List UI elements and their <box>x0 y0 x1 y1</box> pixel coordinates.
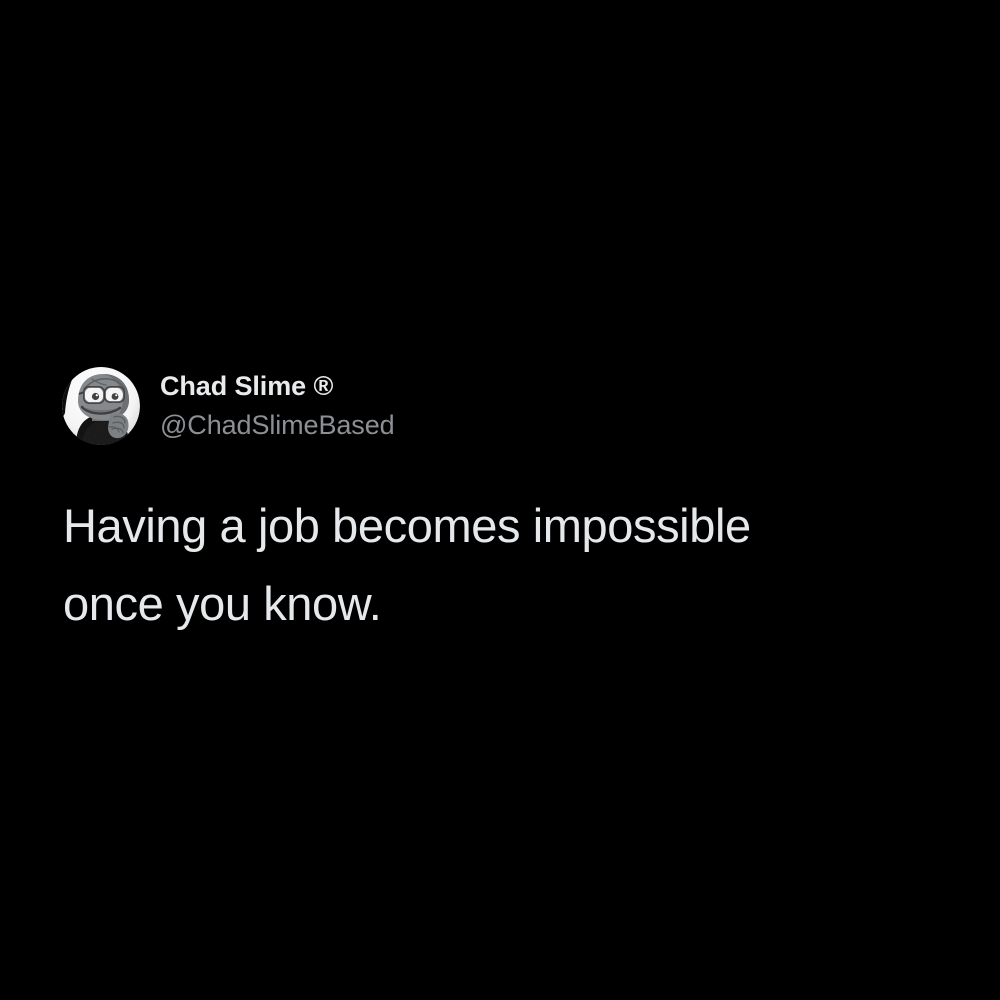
tweet-header: Chad Slime ® @ChadSlimeBased <box>62 367 395 445</box>
handle[interactable]: @ChadSlimeBased <box>160 410 395 442</box>
author-block: Chad Slime ® @ChadSlimeBased <box>160 367 395 442</box>
avatar[interactable] <box>62 367 140 445</box>
tweet-body-text: Having a job becomes impossible once you… <box>63 487 863 643</box>
display-name[interactable]: Chad Slime ® <box>160 371 395 403</box>
tweet-card: Chad Slime ® @ChadSlimeBased Having a jo… <box>0 0 1000 1000</box>
pepe-frog-thinking-avatar-icon <box>62 367 140 445</box>
